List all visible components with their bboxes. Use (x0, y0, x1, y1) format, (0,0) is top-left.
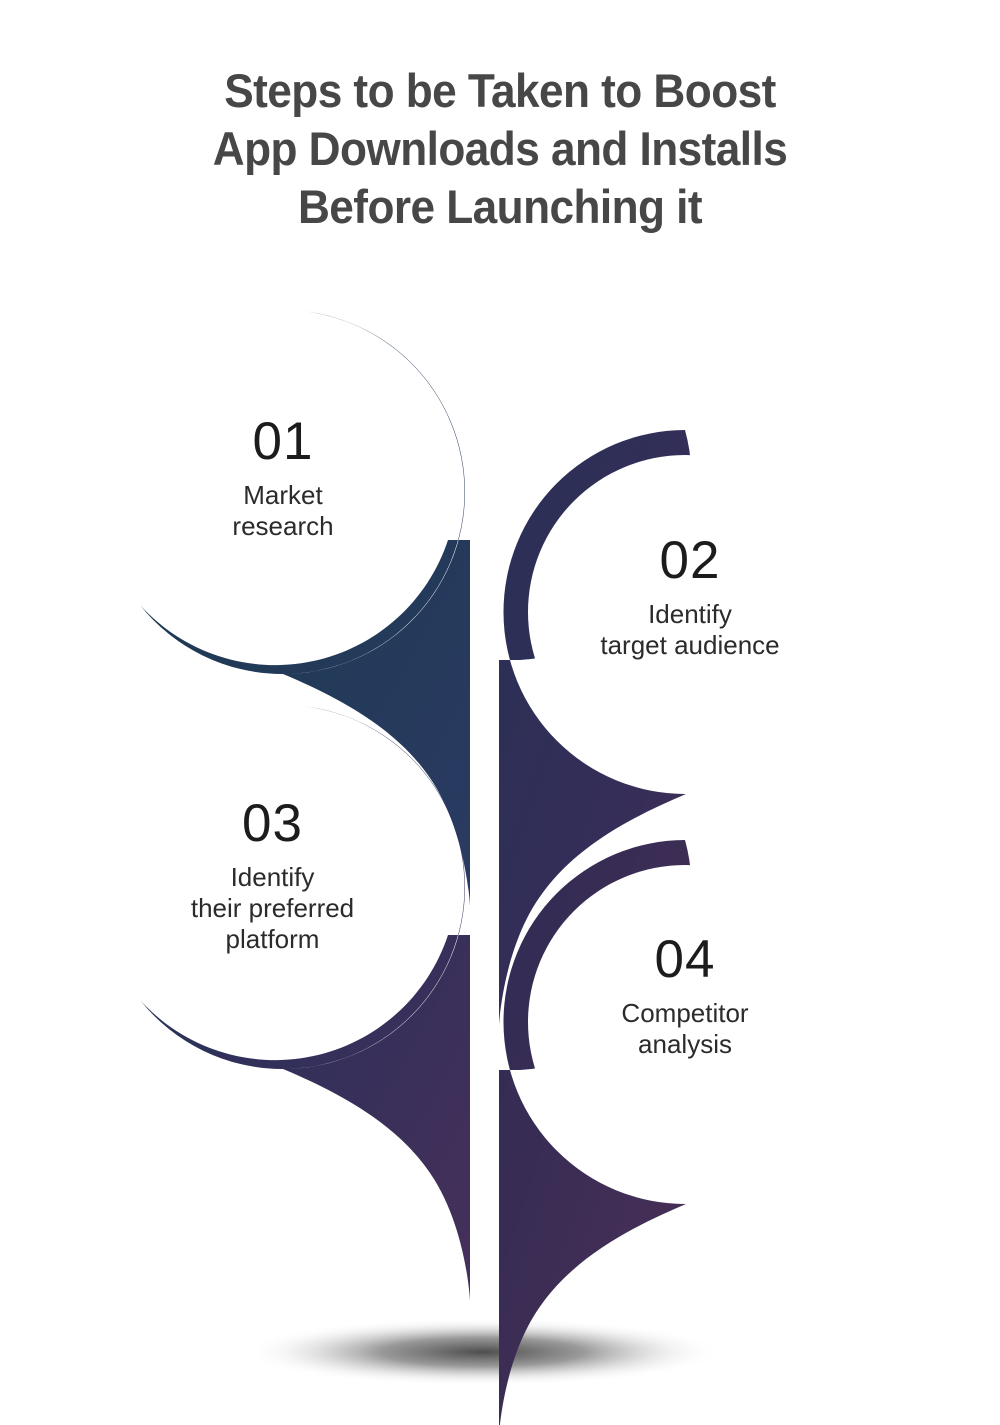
ground-shadow (242, 1318, 722, 1386)
steps-diagram (0, 0, 1000, 1425)
step-shape-3[interactable] (126, 705, 470, 1300)
infographic-canvas: Steps to be Taken to Boost App Downloads… (0, 0, 1000, 1425)
